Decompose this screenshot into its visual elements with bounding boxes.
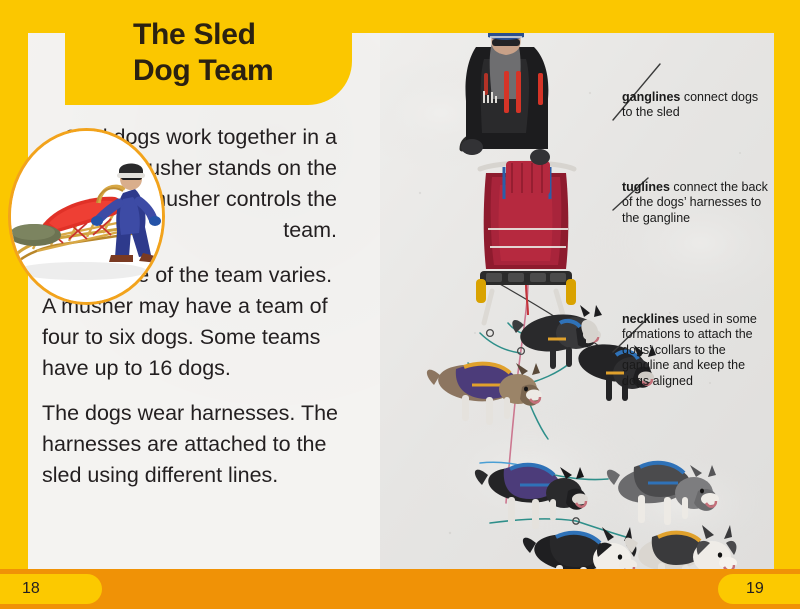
callout-term-ganglines: ganglines bbox=[622, 90, 680, 104]
paragraph-3: The dogs wear harnesses. The harnesses a… bbox=[10, 398, 345, 491]
title-banner: The Sled Dog Team bbox=[65, 0, 352, 105]
bottom-orange-bar bbox=[0, 569, 800, 609]
title-line-1: The Sled bbox=[133, 18, 256, 51]
page-number-left: 18 bbox=[0, 574, 102, 604]
musher-with-red-sled-illustration bbox=[11, 131, 162, 302]
inset-photo-musher-sled bbox=[8, 128, 165, 305]
callout-tuglines: tuglines connect the back of the dogs’ h… bbox=[622, 180, 772, 226]
book-spread: The Sled Dog Team bbox=[0, 0, 800, 609]
callout-term-necklines: necklines bbox=[622, 312, 679, 326]
callout-ganglines: ganglines connect dogs to the sled bbox=[622, 90, 772, 121]
callout-necklines: necklines used in some formations to att… bbox=[622, 312, 772, 389]
right-yellow-border bbox=[774, 0, 800, 569]
page-number-right: 19 bbox=[718, 574, 800, 604]
title-line-2: Dog Team bbox=[133, 54, 273, 87]
page-title: The Sled Dog Team bbox=[133, 17, 363, 89]
callout-term-tuglines: tuglines bbox=[622, 180, 670, 194]
